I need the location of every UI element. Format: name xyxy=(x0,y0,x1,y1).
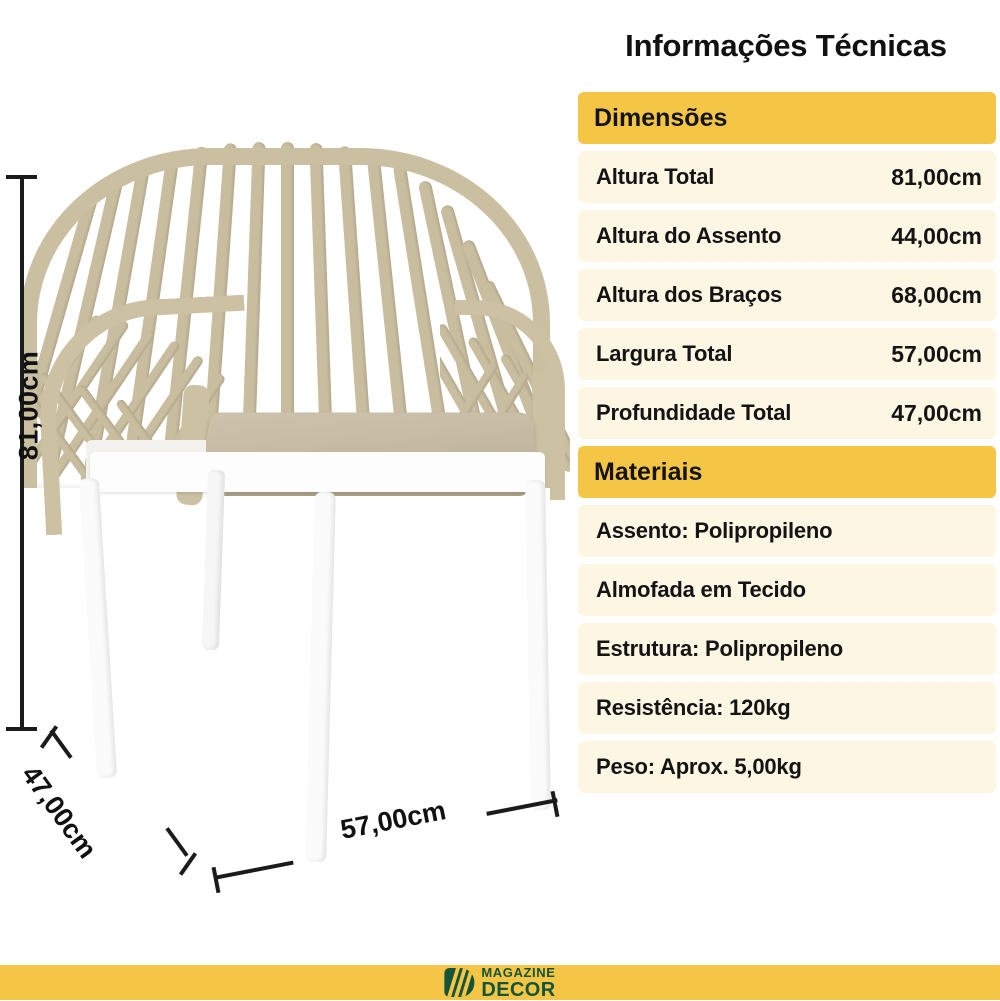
spec-label: Largura Total xyxy=(596,341,732,367)
footer-bar: MAGAZINE DECOR xyxy=(0,965,1000,1000)
brand-logo-text: MAGAZINE DECOR xyxy=(481,966,555,1000)
page-title: Informações Técnicas xyxy=(578,28,994,64)
spec-label: Assento: Polipropileno xyxy=(596,518,832,544)
spec-value: 81,00cm xyxy=(891,164,982,191)
spec-row: Altura Total81,00cm xyxy=(578,151,996,203)
spec-label: Resistência: 120kg xyxy=(596,695,791,721)
height-dimension-cap-top xyxy=(6,175,37,179)
magazine-decor-logo-icon xyxy=(444,968,474,997)
spec-value: 68,00cm xyxy=(891,282,982,309)
brand-logo: MAGAZINE DECOR xyxy=(444,965,555,1000)
spec-row: Almofada em Tecido xyxy=(578,564,996,616)
chair-seat-shell xyxy=(90,452,545,492)
spec-row: Resistência: 120kg xyxy=(578,682,996,734)
chair-leg-front-right xyxy=(305,492,336,862)
height-dimension-label: 81,00cm xyxy=(14,341,45,471)
spec-label: Almofada em Tecido xyxy=(596,577,806,603)
spec-row: Largura Total57,00cm xyxy=(578,328,996,380)
spec-label: Estrutura: Polipropileno xyxy=(596,636,843,662)
spec-row: Estrutura: Polipropileno xyxy=(578,623,996,675)
section-header-materiais: Materiais xyxy=(578,446,996,498)
brand-name-line1: MAGAZINE xyxy=(481,966,555,979)
spec-value: 47,00cm xyxy=(891,400,982,427)
spec-row: Altura do Assento44,00cm xyxy=(578,210,996,262)
spec-label: Altura Total xyxy=(596,164,714,190)
spec-row: Profundidade Total47,00cm xyxy=(578,387,996,439)
spec-row: Altura dos Braços68,00cm xyxy=(578,269,996,321)
chair-leg-back-right xyxy=(525,480,551,810)
brand-name-line2: DECOR xyxy=(481,980,555,1000)
spec-list: DimensõesAltura Total81,00cmAltura do As… xyxy=(578,92,996,800)
section-header-dimensoes: Dimensões xyxy=(578,92,996,144)
product-image-pane: 81,00cm 57,00cm 47,00cm xyxy=(0,0,570,955)
spec-label: Altura dos Braços xyxy=(596,282,782,308)
spec-value: 57,00cm xyxy=(891,341,982,368)
chair-illustration xyxy=(0,0,570,955)
spec-label: Peso: Aprox. 5,00kg xyxy=(596,754,802,780)
height-dimension-cap-bottom xyxy=(6,727,37,731)
spec-label: Altura do Assento xyxy=(596,223,781,249)
spec-row: Peso: Aprox. 5,00kg xyxy=(578,741,996,793)
spec-value: 44,00cm xyxy=(891,223,982,250)
product-spec-sheet: 81,00cm 57,00cm 47,00cm Informações Técn… xyxy=(0,0,1000,1000)
spec-label: Profundidade Total xyxy=(596,400,791,426)
technical-info-pane: Informações Técnicas DimensõesAltura Tot… xyxy=(570,0,1000,955)
spec-row: Assento: Polipropileno xyxy=(578,505,996,557)
